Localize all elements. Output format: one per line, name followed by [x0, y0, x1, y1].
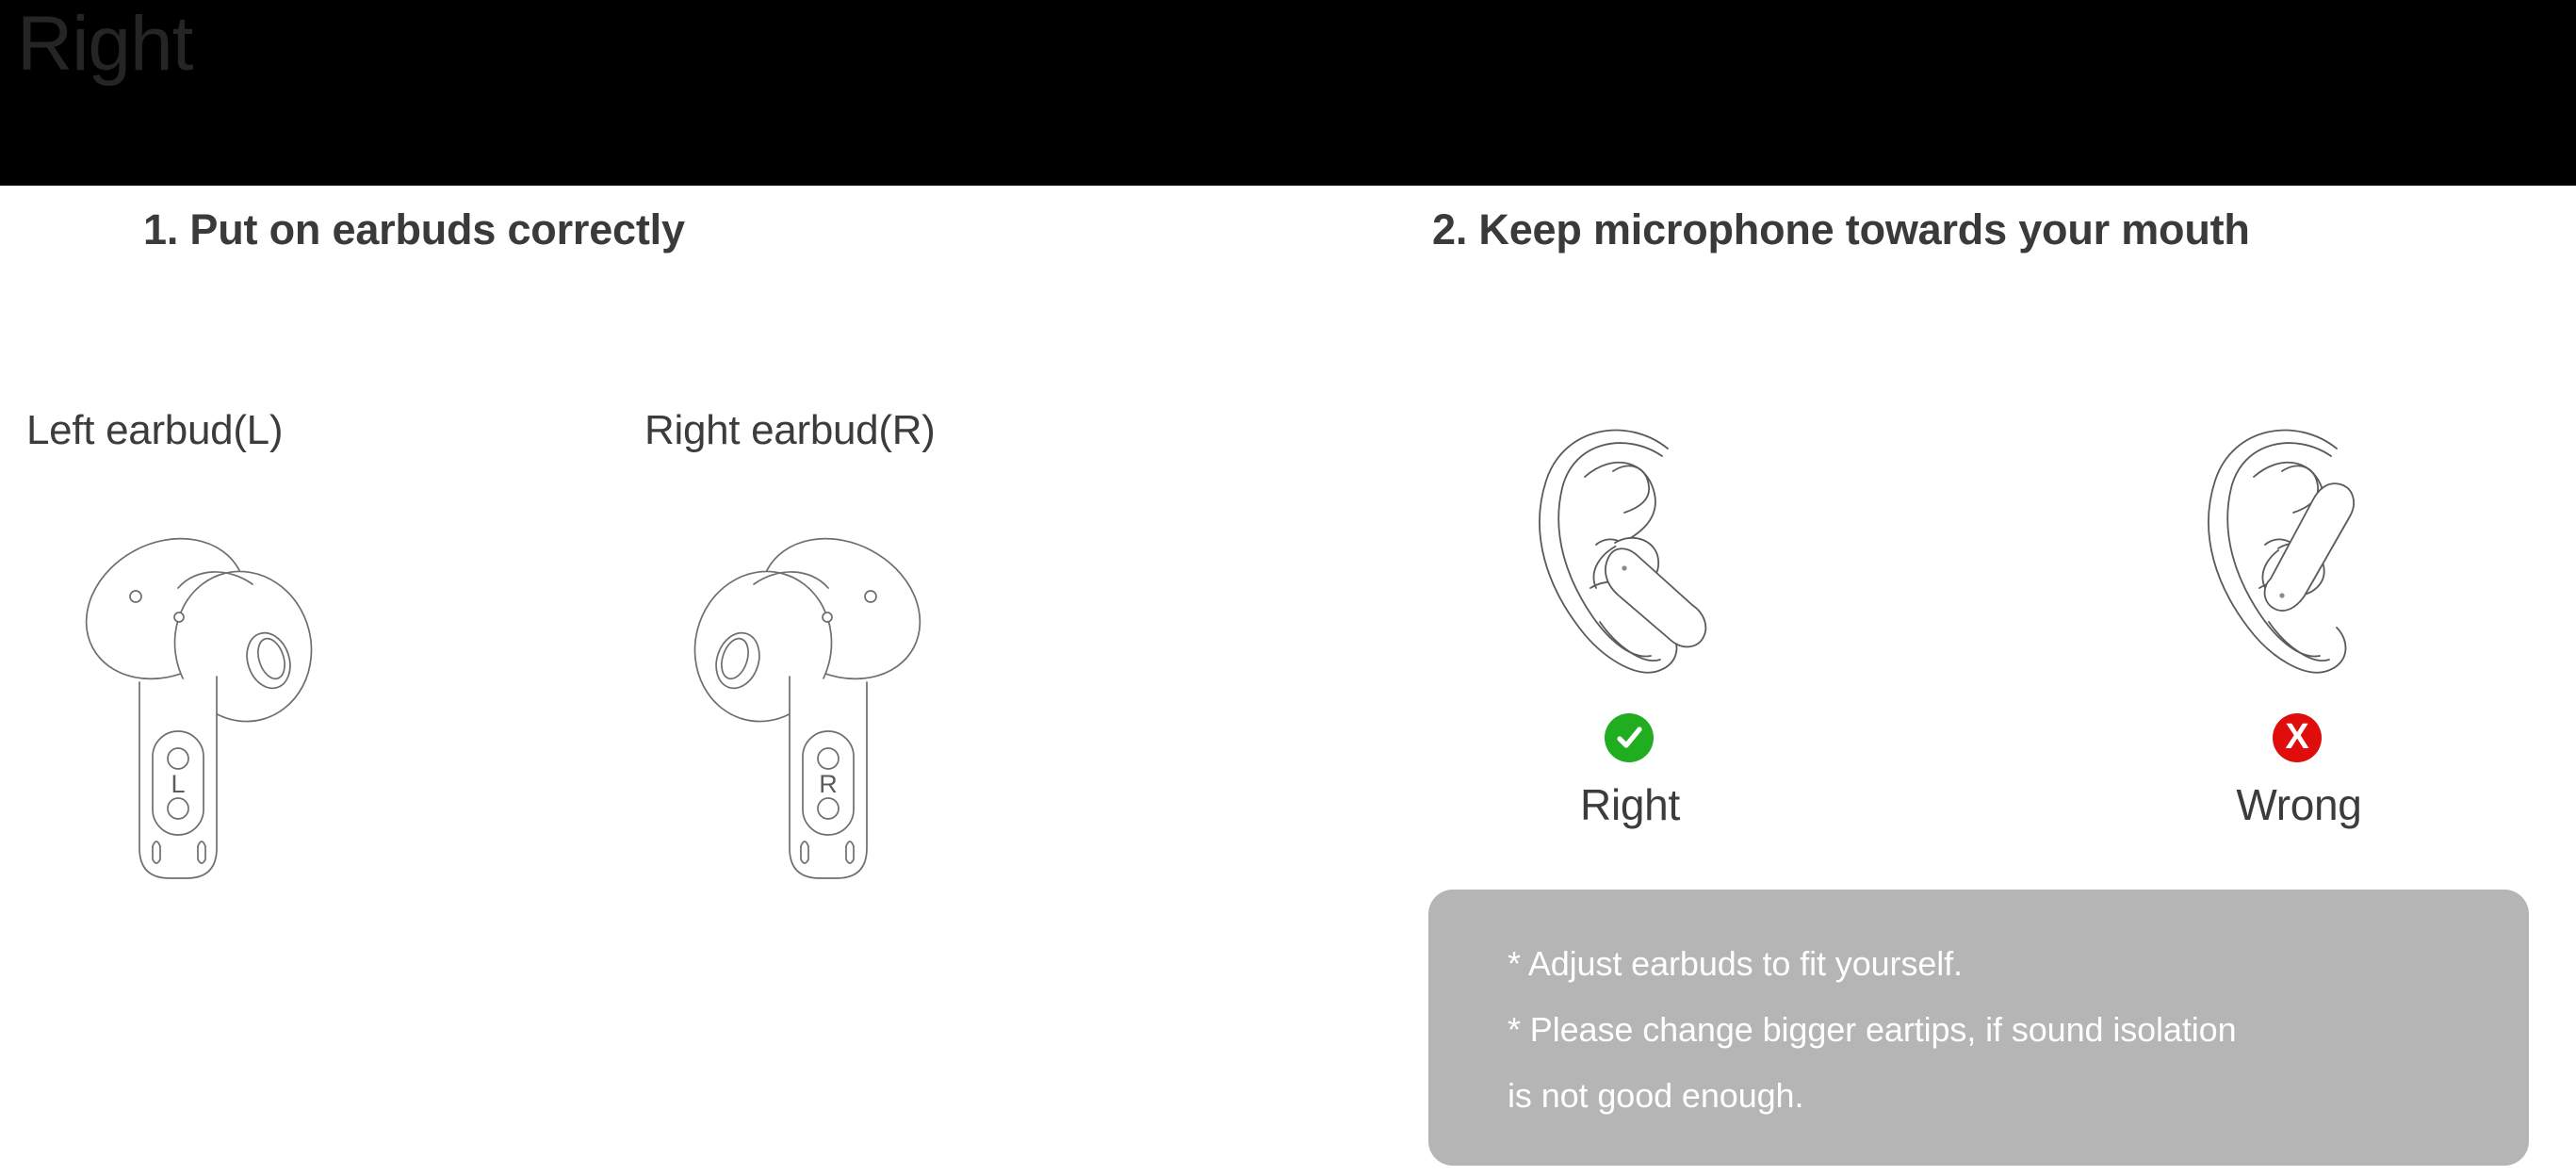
manual-page: Right 1. Put on earbuds correctly 2. Kee… — [0, 0, 2576, 1176]
x-glyph: X — [2285, 719, 2308, 755]
ear-correct-icon — [1515, 403, 1769, 691]
note-line: * Please change bigger eartips, if sound… — [1508, 997, 2529, 1063]
note-line: * Adjust earbuds to fit yourself. — [1508, 931, 2529, 997]
right-earbud-icon: R — [669, 498, 952, 917]
svg-text:L: L — [171, 770, 185, 798]
verdict-label-wrong: Wrong — [2158, 779, 2440, 830]
banner-title: Right — [17, 6, 192, 83]
verdict-label-right: Right — [1489, 779, 1771, 830]
left-earbud-icon: L — [55, 498, 337, 917]
x-circle-icon: X — [2273, 713, 2322, 762]
right-earbud-label: Right earbud(R) — [644, 407, 936, 454]
step-2-heading: 2. Keep microphone towards your mouth — [1432, 205, 2250, 254]
left-earbud-label: Left earbud(L) — [26, 407, 283, 454]
ear-incorrect-icon — [2184, 403, 2438, 691]
note-box: * Adjust earbuds to fit yourself. * Plea… — [1428, 890, 2529, 1166]
svg-text:R: R — [819, 770, 838, 798]
note-line: is not good enough. — [1508, 1063, 2529, 1129]
check-circle-icon — [1605, 713, 1654, 762]
top-banner: Right — [0, 0, 2576, 186]
step-1-heading: 1. Put on earbuds correctly — [143, 205, 685, 254]
